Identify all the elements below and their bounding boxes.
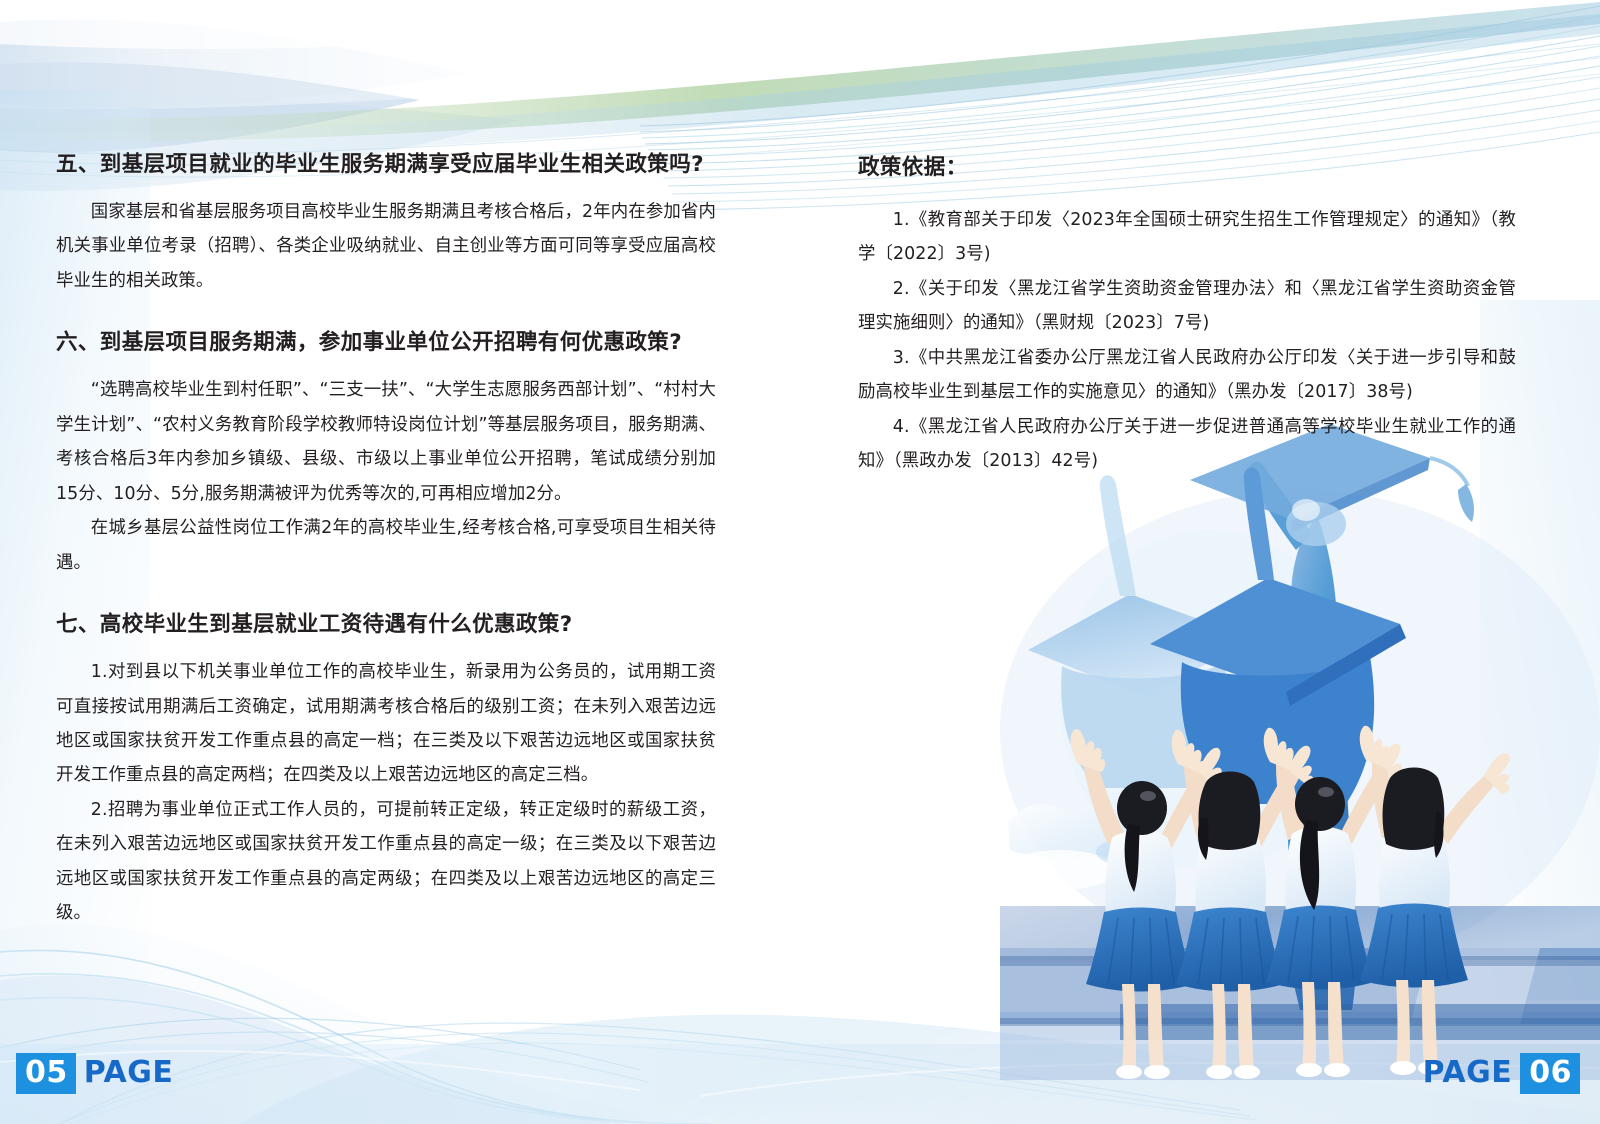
section-seven-paragraph-1: 1.对到县以下机关事业单位工作的高校毕业生，新录用为公务员的，试用期工资可直接按… (56, 655, 716, 793)
section-five-paragraph-1: 国家基层和省基层服务项目高校毕业生服务期满且考核合格后，2年内在参加省内机关事业… (56, 195, 716, 298)
section-seven-heading: 七、高校毕业生到基层就业工资待遇有什么优惠政策? (56, 610, 716, 639)
left-page-number: 05 PAGE (16, 1053, 173, 1094)
policy-reference-item: 3.《中共黑龙江省委办公厅黑龙江省人民政府办公厅印发〈关于进一步引导和鼓励高校毕… (858, 341, 1516, 410)
right-page-number-value: 06 (1520, 1053, 1580, 1094)
policy-reference-item: 2.《关于印发〈黑龙江省学生资助资金管理办法〉和〈黑龙江省学生资助资金管理实施细… (858, 272, 1516, 341)
left-page-number-value: 05 (16, 1053, 76, 1094)
section-six-paragraph-1: “选聘高校毕业生到村任职”、“三支一扶”、“大学生志愿服务西部计划”、“村村大学… (56, 373, 716, 511)
right-page-number-label: PAGE (1423, 1053, 1521, 1094)
policy-reference-item: 4.《黑龙江省人民政府办公厅关于进一步促进普通高等学校毕业生就业工作的通知》（黑… (858, 410, 1516, 479)
right-page-column: 政策依据： 1.《教育部关于印发〈2023年全国硕士研究生招生工作管理规定〉的通… (858, 150, 1516, 479)
section-seven-paragraph-2: 2.招聘为事业单位正式工作人员的，可提前转正定级，转正定级时的薪级工资，在未列入… (56, 793, 716, 931)
brochure-spread: 五、到基层项目就业的毕业生服务期满享受应届毕业生相关政策吗? 国家基层和省基层服… (0, 0, 1600, 1124)
policy-basis-heading: 政策依据： (858, 150, 1516, 181)
spread-content: 五、到基层项目就业的毕业生服务期满享受应届毕业生相关政策吗? 国家基层和省基层服… (0, 0, 1600, 1124)
left-page-number-label: PAGE (76, 1053, 174, 1094)
section-six-heading: 六、到基层项目服务期满，参加事业单位公开招聘有何优惠政策? (56, 328, 716, 357)
section-six: 六、到基层项目服务期满，参加事业单位公开招聘有何优惠政策? “选聘高校毕业生到村… (56, 328, 716, 580)
section-seven: 七、高校毕业生到基层就业工资待遇有什么优惠政策? 1.对到县以下机关事业单位工作… (56, 610, 716, 931)
section-five-heading: 五、到基层项目就业的毕业生服务期满享受应届毕业生相关政策吗? (56, 150, 716, 179)
section-six-paragraph-2: 在城乡基层公益性岗位工作满2年的高校毕业生,经考核合格,可享受项目生相关待遇。 (56, 511, 716, 580)
left-page-column: 五、到基层项目就业的毕业生服务期满享受应届毕业生相关政策吗? 国家基层和省基层服… (56, 150, 716, 931)
policy-reference-item: 1.《教育部关于印发〈2023年全国硕士研究生招生工作管理规定〉的通知》（教学〔… (858, 203, 1516, 272)
right-page-number: PAGE 06 (1423, 1053, 1580, 1094)
section-five: 五、到基层项目就业的毕业生服务期满享受应届毕业生相关政策吗? 国家基层和省基层服… (56, 150, 716, 298)
